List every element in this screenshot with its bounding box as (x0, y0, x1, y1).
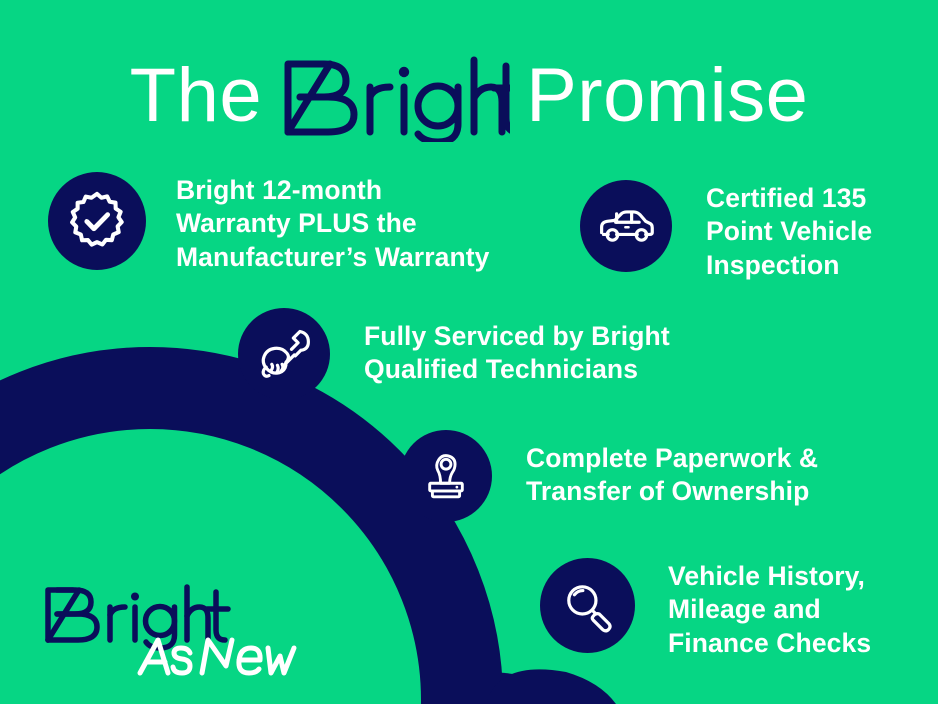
hand-wrench-icon (238, 308, 330, 400)
bright-promise-poster: The (0, 0, 938, 704)
rosette-check-icon (48, 172, 146, 270)
feature-label: Vehicle History, Mileage and Finance Che… (668, 558, 871, 660)
title-suffix: Promise (526, 58, 808, 134)
feature-item-paperwork: Complete Paperwork & Transfer of Ownersh… (400, 430, 818, 522)
feature-item-warranty: Bright 12-month Warranty PLUS the Manufa… (48, 172, 490, 274)
rubber-stamp-icon (400, 430, 492, 522)
brightasnew-logo (40, 578, 300, 678)
title-prefix: The (130, 58, 262, 134)
feature-label: Certified 135 Point Vehicle Inspection (706, 180, 872, 282)
magnifying-glass-icon (540, 558, 635, 653)
car-side-icon (580, 180, 672, 272)
bright-logo-title (278, 50, 510, 147)
page-title: The (0, 42, 938, 150)
feature-label: Complete Paperwork & Transfer of Ownersh… (526, 430, 818, 509)
feature-label: Bright 12-month Warranty PLUS the Manufa… (176, 172, 490, 274)
feature-item-servicing: Fully Serviced by Bright Qualified Techn… (238, 308, 670, 400)
feature-item-history-checks: Vehicle History, Mileage and Finance Che… (540, 558, 871, 660)
feature-label: Fully Serviced by Bright Qualified Techn… (364, 308, 670, 387)
feature-item-inspection: Certified 135 Point Vehicle Inspection (580, 180, 872, 282)
